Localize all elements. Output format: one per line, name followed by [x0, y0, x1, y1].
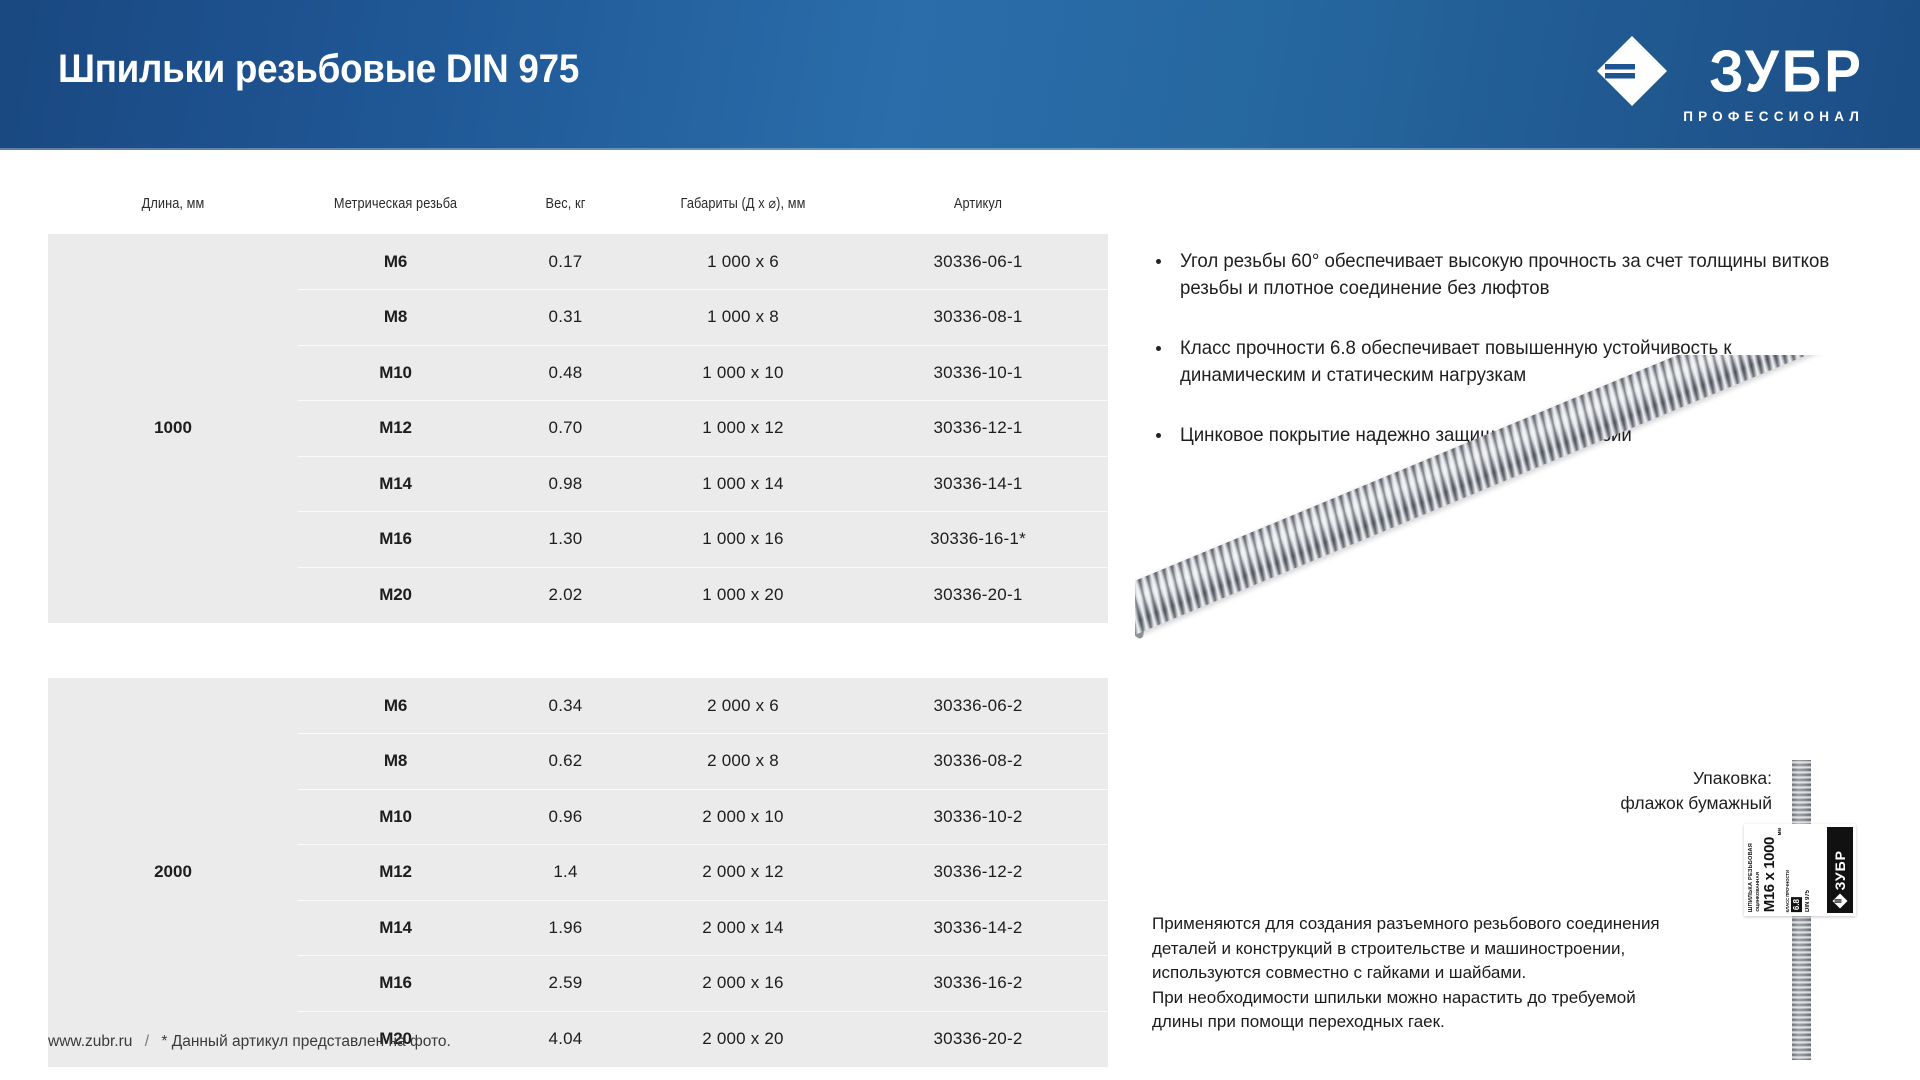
- cell-dimensions: 2 000 х 12: [638, 845, 848, 901]
- flag-zubr-diamond-icon: [1832, 893, 1848, 909]
- cell-thread: M16: [298, 512, 493, 568]
- cell-article: 30336-08-1: [848, 290, 1108, 346]
- specifications-table: Длина, мм Метрическая резьба Вес, кг Габ…: [48, 196, 1108, 1067]
- description-line: используются совместно с гайками и шайба…: [1152, 961, 1712, 986]
- page-title: Шпильки резьбовые DIN 975: [58, 47, 579, 92]
- feature-item: Угол резьбы 60° обеспечивает высокую про…: [1152, 248, 1892, 302]
- flag-size: M16 x 1000: [1762, 837, 1777, 912]
- cell-thread: M14: [298, 900, 493, 956]
- cell-weight: 0.70: [493, 401, 638, 457]
- cell-weight: 0.48: [493, 345, 638, 401]
- usage-description: Применяются для создания разъемного резь…: [1152, 912, 1712, 1035]
- group-length-2000: 2000: [48, 678, 298, 1067]
- header-divider: [0, 148, 1920, 151]
- feature-text: Угол резьбы 60° обеспечивает высокую про…: [1180, 248, 1860, 302]
- packaging-caption-line2: флажок бумажный: [1502, 791, 1772, 816]
- cell-dimensions: 1 000 х 14: [638, 456, 848, 512]
- column-header-article: Артикул: [864, 196, 1093, 234]
- cell-weight: 1.4: [493, 845, 638, 901]
- flag-brand-name: ЗУБР: [1832, 850, 1848, 890]
- cell-dimensions: 1 000 х 8: [638, 290, 848, 346]
- product-spec-sheet: Шпильки резьбовые DIN 975 ЗУБР ПРОФЕССИО…: [0, 0, 1920, 1080]
- packaging-caption: Упаковка: флажок бумажный: [1502, 766, 1772, 816]
- cell-dimensions: 2 000 х 16: [638, 956, 848, 1012]
- brand-name: ЗУБР: [1709, 42, 1864, 101]
- cell-article: 30336-20-1: [848, 567, 1108, 623]
- cell-article: 30336-06-1: [848, 234, 1108, 290]
- threaded-rod-body: [1135, 355, 1920, 635]
- footer-note: * Данный артикул представлен на фото.: [161, 1033, 450, 1050]
- cell-weight: 0.31: [493, 290, 638, 346]
- column-header-length: Длина, мм: [63, 196, 283, 234]
- cell-weight: 0.62: [493, 734, 638, 790]
- packaging-caption-line1: Упаковка:: [1502, 766, 1772, 791]
- description-line: При необходимости шпильки можно нарастит…: [1152, 986, 1712, 1011]
- cell-article: 30336-12-1: [848, 401, 1108, 457]
- cell-weight: 0.17: [493, 234, 638, 290]
- flag-class-caption: КЛАСС ПРОЧНОСТИ: [1786, 870, 1790, 912]
- flag-class-value: 6.8: [1791, 897, 1802, 912]
- cell-weight: 4.04: [493, 1011, 638, 1067]
- cell-article: 30336-16-2: [848, 956, 1108, 1012]
- table-row: 1000 M6 0.17 1 000 х 6 30336-06-1: [48, 234, 1108, 290]
- cell-dimensions: 2 000 х 6: [638, 678, 848, 734]
- logo-text-block: ЗУБР ПРОФЕССИОНАЛ: [1683, 30, 1864, 124]
- cell-article: 30336-20-2: [848, 1011, 1108, 1067]
- cell-dimensions: 1 000 х 16: [638, 512, 848, 568]
- table-group-2000: 2000 M6 0.34 2 000 х 6 30336-06-2 M8 0.6…: [48, 678, 1108, 1067]
- cell-article: 30336-10-2: [848, 789, 1108, 845]
- cell-thread: M12: [298, 401, 493, 457]
- cell-weight: 0.34: [493, 678, 638, 734]
- brand-logo: ЗУБР ПРОФЕССИОНАЛ: [1595, 30, 1864, 122]
- flag-brand-block: ЗУБР: [1827, 827, 1853, 913]
- product-photo-threaded-rod: [1135, 355, 1920, 775]
- cell-article: 30336-12-2: [848, 845, 1108, 901]
- column-header-weight: Вес, кг: [502, 196, 630, 234]
- footer: www.zubr.ru / * Данный артикул представл…: [48, 1033, 451, 1051]
- cell-dimensions: 1 000 х 20: [638, 567, 848, 623]
- cell-dimensions: 1 000 х 12: [638, 401, 848, 457]
- cell-thread: M20: [298, 567, 493, 623]
- table-group-1000: 1000 M6 0.17 1 000 х 6 30336-06-1 M8 0.3…: [48, 234, 1108, 623]
- cell-weight: 0.96: [493, 789, 638, 845]
- group-length-1000: 1000: [48, 234, 298, 623]
- bullet-dot-icon: [1156, 346, 1161, 351]
- cell-article: 30336-16-1*: [848, 512, 1108, 568]
- cell-thread: M6: [298, 234, 493, 290]
- flag-standard: DIN 975: [1805, 890, 1811, 912]
- description-line: Применяются для создания разъемного резь…: [1152, 912, 1712, 937]
- cell-dimensions: 1 000 х 6: [638, 234, 848, 290]
- column-header-thread: Метрическая резьба: [310, 196, 482, 234]
- description-line: деталей и конструкций в строительстве и …: [1152, 937, 1712, 962]
- paper-flag-label: ШПИЛЬКА РЕЗЬБОВАЯ ОЦИНКОВАННАЯ M16 x 100…: [1744, 824, 1856, 916]
- footer-website[interactable]: www.zubr.ru: [48, 1033, 132, 1050]
- page-header: Шпильки резьбовые DIN 975 ЗУБР ПРОФЕССИО…: [0, 0, 1920, 150]
- cell-dimensions: 2 000 х 8: [638, 734, 848, 790]
- footer-separator: /: [145, 1033, 149, 1050]
- flag-size-unit: мм: [1778, 828, 1783, 835]
- cell-weight: 1.96: [493, 900, 638, 956]
- cell-weight: 0.98: [493, 456, 638, 512]
- cell-thread: M6: [298, 678, 493, 734]
- cell-article: 30336-06-2: [848, 678, 1108, 734]
- cell-thread: M8: [298, 734, 493, 790]
- cell-thread: M16: [298, 956, 493, 1012]
- cell-weight: 2.59: [493, 956, 638, 1012]
- cell-article: 30336-14-1: [848, 456, 1108, 512]
- brand-tagline: ПРОФЕССИОНАЛ: [1683, 109, 1864, 124]
- packaging-photo: ШПИЛЬКА РЕЗЬБОВАЯ ОЦИНКОВАННАЯ M16 x 100…: [1740, 760, 1860, 1060]
- cell-article: 30336-10-1: [848, 345, 1108, 401]
- cell-dimensions: 2 000 х 10: [638, 789, 848, 845]
- table-row: 2000 M6 0.34 2 000 х 6 30336-06-2: [48, 678, 1108, 734]
- cell-thread: M10: [298, 789, 493, 845]
- cell-article: 30336-14-2: [848, 900, 1108, 956]
- cell-thread: M12: [298, 845, 493, 901]
- group-separator: [48, 623, 1108, 679]
- description-line: длины при помощи переходных гаек.: [1152, 1010, 1712, 1035]
- zubr-diamond-icon: [1595, 34, 1669, 108]
- cell-weight: 2.02: [493, 567, 638, 623]
- bullet-dot-icon: [1156, 259, 1161, 264]
- cell-dimensions: 2 000 х 14: [638, 900, 848, 956]
- cell-thread: M14: [298, 456, 493, 512]
- cell-weight: 1.30: [493, 512, 638, 568]
- cell-thread: M10: [298, 345, 493, 401]
- flag-product-name-line2: ОЦИНКОВАННАЯ: [1756, 872, 1761, 912]
- cell-dimensions: 1 000 х 10: [638, 345, 848, 401]
- cell-article: 30336-08-2: [848, 734, 1108, 790]
- cell-dimensions: 2 000 х 20: [638, 1011, 848, 1067]
- cell-thread: M8: [298, 290, 493, 346]
- table-header-row: Длина, мм Метрическая резьба Вес, кг Габ…: [48, 196, 1108, 234]
- column-header-dimensions: Габариты (Д x ⌀), мм: [651, 196, 836, 234]
